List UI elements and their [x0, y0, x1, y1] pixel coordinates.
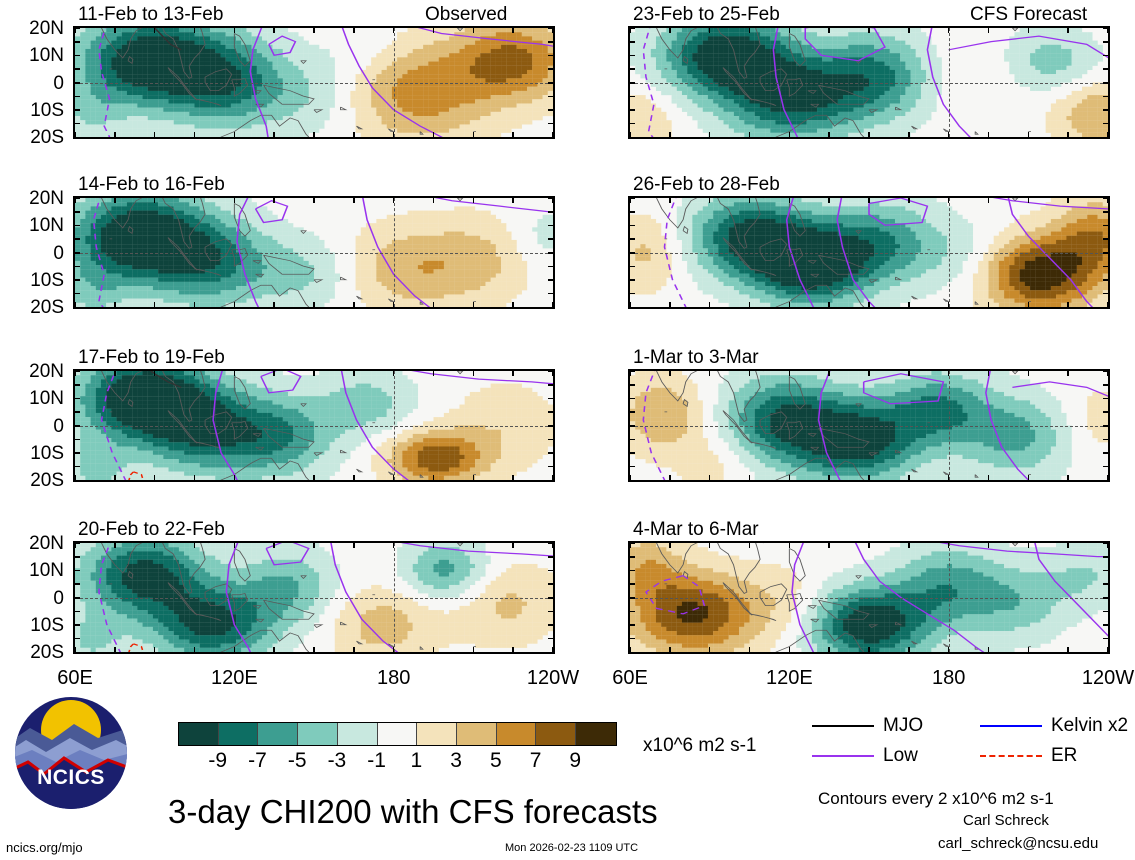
axis-tick — [709, 196, 711, 203]
axis-tick — [1067, 302, 1069, 309]
y-axis-label: 10S — [0, 616, 64, 635]
axis-tick — [628, 82, 635, 84]
legend-label: MJO — [883, 716, 923, 735]
axis-tick — [749, 196, 751, 203]
x-axis-label: 120E — [757, 668, 821, 688]
axis-tick — [473, 26, 475, 33]
axis-tick — [313, 541, 315, 548]
axis-tick — [628, 41, 635, 43]
axis-tick — [73, 398, 80, 400]
axis-tick — [629, 26, 631, 33]
axis-tick — [908, 196, 910, 203]
axis-tick — [629, 475, 631, 482]
axis-tick — [1103, 266, 1110, 268]
colorbar-swatch — [298, 723, 338, 745]
axis-tick — [669, 475, 671, 482]
axis-tick — [548, 611, 555, 613]
page-title: 3-day CHI200 with CFS forecasts — [168, 795, 658, 828]
axis-tick — [433, 647, 435, 654]
axis-tick — [628, 638, 635, 640]
axis-tick — [194, 647, 196, 654]
axis-tick — [1107, 541, 1109, 548]
axis-tick — [114, 302, 116, 309]
panel-title: 11-Feb to 13-Feb — [78, 5, 223, 24]
axis-tick — [548, 211, 555, 213]
generation-timestamp: Mon 2026-02-23 1109 UTC — [505, 843, 638, 854]
author-name: Carl Schreck — [963, 813, 1049, 828]
axis-tick — [868, 475, 870, 482]
axis-tick — [628, 452, 635, 454]
axis-tick — [548, 68, 555, 70]
axis-tick — [73, 55, 80, 57]
axis-tick — [628, 570, 635, 572]
x-axis-label: 120W — [1076, 668, 1135, 688]
axis-tick — [154, 475, 156, 482]
axis-tick — [552, 541, 554, 548]
y-axis-label: 20S — [0, 643, 64, 662]
axis-tick — [828, 541, 830, 548]
axis-tick — [868, 369, 870, 376]
axis-tick — [1103, 439, 1110, 441]
axis-tick — [154, 26, 156, 33]
axis-tick — [473, 369, 475, 376]
axis-tick — [473, 541, 475, 548]
axis-tick — [988, 647, 990, 654]
ncics-logo: NCICS — [12, 694, 130, 812]
axis-tick — [628, 211, 635, 213]
axis-tick — [1103, 225, 1110, 227]
axis-tick — [512, 647, 514, 654]
axis-tick — [948, 647, 950, 654]
column-header: Observed — [425, 5, 507, 24]
axis-tick — [1028, 647, 1030, 654]
axis-tick — [73, 439, 80, 441]
y-axis-label: 0 — [0, 244, 64, 263]
axis-tick — [1103, 68, 1110, 70]
x-axis-label: 180 — [917, 668, 981, 688]
axis-tick — [1107, 475, 1109, 482]
axis-tick — [313, 369, 315, 376]
axis-tick — [73, 82, 80, 84]
axis-tick — [74, 132, 76, 139]
axis-tick — [74, 369, 76, 376]
axis-tick — [988, 132, 990, 139]
axis-tick — [313, 647, 315, 654]
axis-tick — [473, 647, 475, 654]
panel-title: 17-Feb to 19-Feb — [78, 348, 225, 367]
y-axis-label: 10N — [0, 561, 64, 580]
axis-tick — [548, 556, 555, 558]
ncics-logo-graphic — [12, 694, 130, 812]
panel-title: 23-Feb to 25-Feb — [633, 5, 780, 24]
map-panel — [628, 541, 1110, 654]
dateline — [394, 198, 395, 307]
axis-tick — [908, 26, 910, 33]
axis-tick — [114, 369, 116, 376]
axis-tick — [948, 132, 950, 139]
axis-tick — [73, 583, 80, 585]
axis-tick — [908, 132, 910, 139]
y-axis-label: 10S — [0, 444, 64, 463]
axis-tick — [548, 293, 555, 295]
axis-tick — [628, 238, 635, 240]
axis-tick — [628, 411, 635, 413]
axis-tick — [73, 556, 80, 558]
axis-tick — [273, 196, 275, 203]
axis-tick — [1107, 369, 1109, 376]
contour-interval-note: Contours every 2 x10^6 m2 s-1 — [818, 790, 1054, 807]
y-axis-label: 20S — [0, 128, 64, 147]
axis-tick — [552, 132, 554, 139]
axis-tick — [669, 541, 671, 548]
axis-tick — [393, 647, 395, 654]
y-axis-label: 20S — [0, 471, 64, 490]
axis-tick — [628, 466, 635, 468]
axis-tick — [154, 647, 156, 654]
axis-tick — [629, 132, 631, 139]
axis-tick — [1103, 123, 1110, 125]
axis-tick — [548, 466, 555, 468]
axis-tick — [548, 597, 555, 599]
axis-tick — [1067, 26, 1069, 33]
map-panel — [628, 26, 1110, 139]
axis-tick — [1103, 597, 1110, 599]
axis-tick — [789, 196, 791, 203]
equator-line — [75, 253, 553, 254]
axis-tick — [868, 541, 870, 548]
equator-line — [630, 598, 1108, 599]
axis-tick — [1067, 541, 1069, 548]
axis-tick — [1103, 238, 1110, 240]
colorbar — [178, 722, 617, 746]
axis-tick — [74, 541, 76, 548]
colorbar-swatch — [576, 723, 616, 745]
legend-line-swatch — [980, 725, 1042, 727]
axis-tick — [154, 369, 156, 376]
axis-tick — [313, 302, 315, 309]
axis-tick — [1103, 556, 1110, 558]
colorbar-swatch — [457, 723, 497, 745]
axis-tick — [669, 132, 671, 139]
map-panel — [73, 369, 555, 482]
axis-tick — [1103, 252, 1110, 254]
axis-tick — [548, 452, 555, 454]
axis-tick — [628, 266, 635, 268]
axis-tick — [114, 541, 116, 548]
axis-tick — [1103, 411, 1110, 413]
axis-tick — [1067, 369, 1069, 376]
axis-tick — [433, 26, 435, 33]
y-axis-label: 20N — [0, 19, 64, 38]
axis-tick — [353, 369, 355, 376]
axis-tick — [353, 475, 355, 482]
dateline — [394, 371, 395, 480]
axis-tick — [628, 439, 635, 441]
legend-line-swatch — [812, 725, 874, 727]
colorbar-swatch — [219, 723, 259, 745]
y-axis-label: 0 — [0, 74, 64, 93]
panel-title: 4-Mar to 6-Mar — [633, 520, 759, 539]
axis-tick — [512, 196, 514, 203]
axis-tick — [273, 475, 275, 482]
axis-tick — [988, 475, 990, 482]
axis-tick — [908, 647, 910, 654]
axis-tick — [273, 302, 275, 309]
axis-tick — [1028, 369, 1030, 376]
axis-tick — [1067, 196, 1069, 203]
axis-tick — [313, 26, 315, 33]
axis-tick — [73, 68, 80, 70]
axis-tick — [669, 196, 671, 203]
y-axis-label: 0 — [0, 589, 64, 608]
axis-tick — [628, 68, 635, 70]
axis-tick — [789, 475, 791, 482]
axis-tick — [73, 252, 80, 254]
axis-tick — [868, 196, 870, 203]
axis-tick — [74, 26, 76, 33]
axis-tick — [948, 26, 950, 33]
axis-tick — [749, 132, 751, 139]
axis-tick — [73, 96, 80, 98]
axis-tick — [73, 238, 80, 240]
axis-tick — [1028, 302, 1030, 309]
axis-tick — [548, 96, 555, 98]
axis-tick — [709, 369, 711, 376]
axis-tick — [73, 411, 80, 413]
axis-tick — [548, 425, 555, 427]
axis-tick — [1107, 647, 1109, 654]
axis-tick — [548, 384, 555, 386]
axis-tick — [548, 439, 555, 441]
axis-tick — [548, 624, 555, 626]
axis-tick — [73, 611, 80, 613]
axis-tick — [433, 132, 435, 139]
axis-tick — [552, 369, 554, 376]
axis-tick — [552, 475, 554, 482]
y-axis-label: 0 — [0, 417, 64, 436]
axis-tick — [548, 109, 555, 111]
axis-tick — [512, 302, 514, 309]
axis-tick — [749, 302, 751, 309]
axis-tick — [628, 96, 635, 98]
axis-tick — [1103, 384, 1110, 386]
colorbar-swatch — [378, 723, 418, 745]
axis-tick — [73, 123, 80, 125]
axis-tick — [1028, 196, 1030, 203]
equator-line — [75, 598, 553, 599]
axis-tick — [512, 132, 514, 139]
colorbar-swatch — [338, 723, 378, 745]
axis-tick — [393, 302, 395, 309]
contour-legend: MJOKelvin x2LowER — [812, 716, 1132, 776]
axis-tick — [908, 302, 910, 309]
axis-tick — [628, 583, 635, 585]
axis-tick — [629, 369, 631, 376]
axis-tick — [828, 26, 830, 33]
axis-tick — [353, 26, 355, 33]
axis-tick — [473, 132, 475, 139]
axis-tick — [828, 647, 830, 654]
legend-item: ER — [980, 746, 1077, 765]
axis-tick — [789, 541, 791, 548]
axis-tick — [1103, 452, 1110, 454]
axis-tick — [988, 302, 990, 309]
axis-tick — [512, 475, 514, 482]
axis-tick — [73, 41, 80, 43]
axis-tick — [1103, 425, 1110, 427]
axis-tick — [548, 55, 555, 57]
axis-tick — [473, 475, 475, 482]
axis-tick — [948, 302, 950, 309]
axis-tick — [552, 647, 554, 654]
axis-tick — [313, 475, 315, 482]
equator-line — [75, 83, 553, 84]
axis-tick — [234, 369, 236, 376]
axis-tick — [669, 647, 671, 654]
legend-item: Low — [812, 746, 918, 765]
axis-tick — [114, 26, 116, 33]
map-panel — [628, 369, 1110, 482]
axis-tick — [73, 624, 80, 626]
axis-tick — [789, 369, 791, 376]
author-email: carl_schreck@ncsu.edu — [938, 836, 1098, 851]
axis-tick — [709, 26, 711, 33]
axis-tick — [628, 123, 635, 125]
axis-tick — [1107, 132, 1109, 139]
y-axis-label: 20N — [0, 189, 64, 208]
map-panel — [628, 196, 1110, 309]
axis-tick — [629, 196, 631, 203]
axis-tick — [868, 132, 870, 139]
axis-tick — [749, 369, 751, 376]
axis-tick — [73, 279, 80, 281]
axis-tick — [908, 369, 910, 376]
axis-tick — [234, 541, 236, 548]
axis-tick — [709, 132, 711, 139]
axis-tick — [73, 293, 80, 295]
colorbar-units-label: x10^6 m2 s-1 — [643, 736, 756, 755]
axis-tick — [154, 132, 156, 139]
axis-tick — [749, 541, 751, 548]
x-axis-label: 60E — [598, 668, 662, 688]
x-axis-label: 180 — [362, 668, 426, 688]
axis-tick — [512, 541, 514, 548]
axis-tick — [393, 196, 395, 203]
axis-tick — [868, 647, 870, 654]
axis-tick — [1103, 96, 1110, 98]
axis-tick — [552, 302, 554, 309]
dateline — [949, 28, 950, 137]
axis-tick — [749, 647, 751, 654]
panel-title: 1-Mar to 3-Mar — [633, 348, 759, 367]
axis-tick — [1067, 132, 1069, 139]
axis-tick — [908, 541, 910, 548]
colorbar-swatch — [179, 723, 219, 745]
axis-tick — [552, 196, 554, 203]
axis-tick — [749, 26, 751, 33]
axis-tick — [948, 541, 950, 548]
axis-tick — [433, 541, 435, 548]
axis-tick — [628, 109, 635, 111]
axis-tick — [548, 225, 555, 227]
axis-tick — [1103, 211, 1110, 213]
axis-tick — [433, 369, 435, 376]
axis-tick — [548, 82, 555, 84]
panel-title: 20-Feb to 22-Feb — [78, 520, 225, 539]
axis-tick — [234, 302, 236, 309]
y-axis-label: 10N — [0, 389, 64, 408]
axis-tick — [353, 302, 355, 309]
axis-tick — [74, 647, 76, 654]
axis-tick — [273, 26, 275, 33]
axis-tick — [628, 597, 635, 599]
axis-tick — [1028, 541, 1030, 548]
axis-tick — [1028, 26, 1030, 33]
axis-tick — [194, 196, 196, 203]
legend-line-swatch — [980, 755, 1042, 757]
axis-tick — [628, 279, 635, 281]
axis-tick — [548, 398, 555, 400]
legend-label: Low — [883, 746, 918, 765]
axis-tick — [948, 475, 950, 482]
colorbar-swatch — [497, 723, 537, 745]
axis-tick — [628, 611, 635, 613]
axis-tick — [548, 638, 555, 640]
axis-tick — [669, 369, 671, 376]
axis-tick — [273, 369, 275, 376]
axis-tick — [628, 556, 635, 558]
axis-tick — [74, 475, 76, 482]
equator-line — [75, 426, 553, 427]
y-axis-label: 20S — [0, 298, 64, 317]
legend-label: ER — [1051, 746, 1077, 765]
axis-tick — [552, 26, 554, 33]
axis-tick — [548, 41, 555, 43]
axis-tick — [73, 638, 80, 640]
axis-tick — [433, 196, 435, 203]
equator-line — [630, 426, 1108, 427]
dateline — [949, 371, 950, 480]
axis-tick — [433, 475, 435, 482]
colorbar-swatch — [417, 723, 457, 745]
axis-tick — [988, 369, 990, 376]
axis-tick — [548, 583, 555, 585]
axis-tick — [273, 132, 275, 139]
equator-line — [630, 83, 1108, 84]
axis-tick — [828, 132, 830, 139]
axis-tick — [73, 452, 80, 454]
axis-tick — [548, 279, 555, 281]
axis-tick — [789, 26, 791, 33]
dateline — [394, 543, 395, 652]
axis-tick — [789, 647, 791, 654]
axis-tick — [628, 384, 635, 386]
site-url: ncics.org/mjo — [6, 841, 83, 854]
axis-tick — [709, 647, 711, 654]
axis-tick — [628, 252, 635, 254]
axis-tick — [393, 132, 395, 139]
axis-tick — [908, 475, 910, 482]
axis-tick — [234, 475, 236, 482]
axis-tick — [988, 196, 990, 203]
axis-tick — [194, 475, 196, 482]
axis-tick — [628, 624, 635, 626]
ncics-logo-text: NCICS — [12, 766, 130, 790]
axis-tick — [194, 26, 196, 33]
dateline — [394, 28, 395, 137]
axis-tick — [749, 475, 751, 482]
axis-tick — [393, 26, 395, 33]
